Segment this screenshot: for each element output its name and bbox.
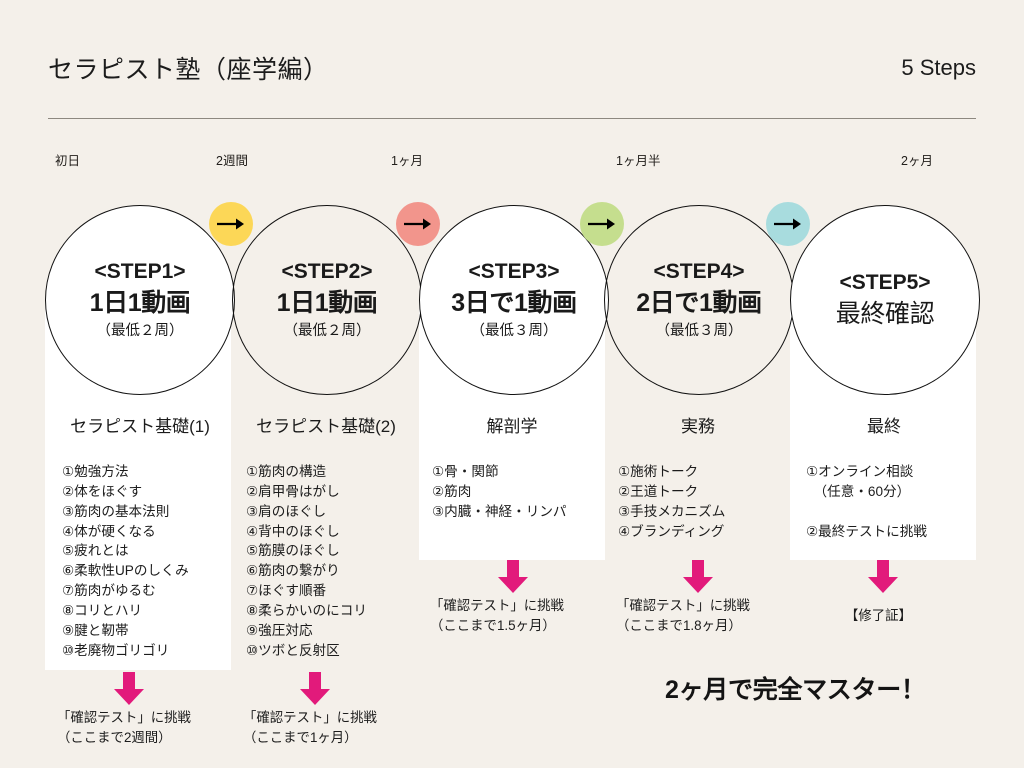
list-item: ②最終テストに挑戦 [806, 522, 927, 542]
closing-tagline: 2ヶ月で完全マスター！ [665, 670, 926, 706]
list-item: ③筋肉の基本法則 [62, 502, 189, 522]
step-main-text-step5: 最終確認 [836, 300, 934, 330]
step-main-text-step2: 1日1動画 [277, 289, 378, 319]
step-label-step2: <STEP2> [281, 260, 372, 285]
list-item: ⑤筋膜のほぐし [246, 541, 367, 561]
list-item: ⑦筋肉がゆるむ [62, 581, 189, 601]
list-item: ②筋肉 [432, 482, 567, 502]
footnote-step1: 「確認テスト」に挑戦 （ここまで2週間） [57, 708, 191, 749]
step-sub-text-step4: （最低３周） [656, 323, 743, 340]
down-arrow-icon-step3 [496, 560, 530, 599]
list-item: ①施術トーク [618, 462, 725, 482]
list-item: ④ブランディング [618, 522, 725, 542]
list-item: ④体が硬くなる [62, 522, 189, 542]
footnote-step4: 「確認テスト」に挑戦 （ここまで1.8ヶ月） [616, 596, 750, 637]
down-arrow-icon-step4 [681, 560, 715, 599]
list-item: ⑧柔らかいのにコリ [246, 601, 367, 621]
step-main-text-step1: 1日1動画 [90, 289, 191, 319]
footnote-step2: 「確認テスト」に挑戦 （ここまで1ヶ月） [243, 708, 377, 749]
arrow-badge-4-5-right-arrow-icon [766, 202, 810, 246]
footnote-step3: 「確認テスト」に挑戦 （ここまで1.5ヶ月） [430, 596, 564, 637]
list-item: ②肩甲骨はがし [246, 482, 367, 502]
timeline-tick-3: 1ヶ月 [391, 150, 423, 169]
column-list-step2: ①筋肉の構造②肩甲骨はがし③肩のほぐし④背中のほぐし⑤筋膜のほぐし⑥筋肉の繋がり… [246, 462, 367, 660]
list-item: ⑧コリとハリ [62, 601, 189, 621]
column-list-step3: ①骨・関節②筋肉③内臓・神経・リンパ [432, 462, 567, 522]
column-list-step5: ①オンライン相談 （任意・60分） ②最終テストに挑戦 [806, 462, 927, 541]
steps-count-label: 5 Steps [901, 55, 976, 81]
column-heading-step1: セラピスト基礎(1) [60, 412, 220, 437]
step-circle-step4[interactable]: <STEP4>2日で1動画（最低３周） [604, 205, 794, 395]
column-heading-step4: 実務 [616, 412, 780, 437]
list-item: （任意・60分） [806, 482, 927, 502]
step-label-step5: <STEP5> [839, 271, 930, 296]
step-label-step4: <STEP4> [653, 260, 744, 285]
arrow-badge-2-3-right-arrow-icon [396, 202, 440, 246]
step-main-text-step3: 3日で1動画 [451, 289, 576, 319]
list-item: ①筋肉の構造 [246, 462, 367, 482]
step-sub-text-step2: （最低２周） [284, 323, 371, 340]
down-arrow-icon-step5 [866, 560, 900, 599]
list-item: ①骨・関節 [432, 462, 567, 482]
header-divider [48, 118, 976, 119]
list-item: ⑤疲れとは [62, 541, 189, 561]
list-item: ⑨腱と靭帯 [62, 621, 189, 641]
list-item: ⑩ツボと反射区 [246, 641, 367, 661]
list-item: ①オンライン相談 [806, 462, 927, 482]
step-circle-step1[interactable]: <STEP1>1日1動画（最低２周） [45, 205, 235, 395]
step-label-step1: <STEP1> [94, 260, 185, 285]
timeline-tick-4: 1ヶ月半 [616, 150, 660, 169]
timeline-tick-2: 2週間 [216, 150, 248, 169]
list-item: ③手技メカニズム [618, 502, 725, 522]
list-item: ⑥筋肉の繋がり [246, 561, 367, 581]
step-circle-step2[interactable]: <STEP2>1日1動画（最低２周） [232, 205, 422, 395]
column-heading-step2: セラピスト基礎(2) [243, 412, 409, 437]
list-item: ②体をほぐす [62, 482, 189, 502]
list-item [806, 502, 927, 522]
step-circle-step3[interactable]: <STEP3>3日で1動画（最低３周） [419, 205, 609, 395]
list-item: ④背中のほぐし [246, 522, 367, 542]
list-item: ⑥柔軟性UPのしくみ [62, 561, 189, 581]
arrow-badge-3-4-right-arrow-icon [580, 202, 624, 246]
timeline-tick-5: 2ヶ月 [901, 150, 933, 169]
step-circle-step5[interactable]: <STEP5>最終確認 [790, 205, 980, 395]
list-item: ⑦ほぐす順番 [246, 581, 367, 601]
list-item: ③内臓・神経・リンパ [432, 502, 567, 522]
list-item: ③肩のほぐし [246, 502, 367, 522]
timeline-tick-1: 初日 [55, 150, 80, 169]
list-item: ⑨強圧対応 [246, 621, 367, 641]
down-arrow-icon-step1 [112, 672, 146, 711]
arrow-badge-1-2-right-arrow-icon [209, 202, 253, 246]
page-title: セラピスト塾（座学編） [48, 50, 329, 86]
roadmap-slide: セラピスト塾（座学編） 5 Steps 初日2週間1ヶ月1ヶ月半2ヶ月 <STE… [0, 0, 1024, 768]
footnote-step5: 【修了証】 [845, 604, 912, 624]
step-label-step3: <STEP3> [468, 260, 559, 285]
list-item: ①勉強方法 [62, 462, 189, 482]
column-list-step1: ①勉強方法②体をほぐす③筋肉の基本法則④体が硬くなる⑤疲れとは⑥柔軟性UPのしく… [62, 462, 189, 660]
step-sub-text-step3: （最低３周） [471, 323, 558, 340]
column-heading-step3: 解剖学 [430, 412, 594, 437]
column-list-step4: ①施術トーク②王道トーク③手技メカニズム④ブランディング [618, 462, 725, 541]
column-heading-step5: 最終 [802, 412, 966, 437]
step-sub-text-step1: （最低２周） [97, 323, 184, 340]
down-arrow-icon-step2 [298, 672, 332, 711]
list-item: ⑩老廃物ゴリゴリ [62, 641, 189, 661]
step-main-text-step4: 2日で1動画 [636, 289, 761, 319]
list-item: ②王道トーク [618, 482, 725, 502]
